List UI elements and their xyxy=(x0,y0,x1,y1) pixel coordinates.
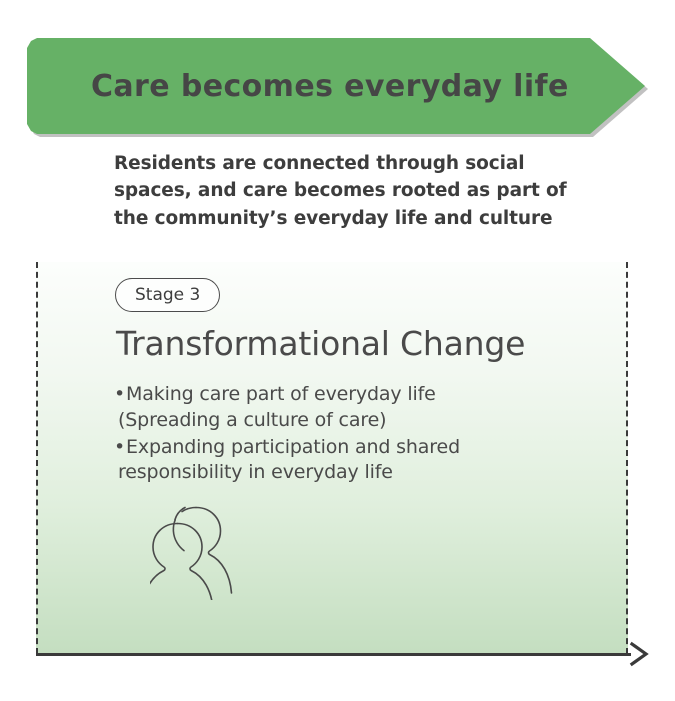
subtitle-line-2: spaces, and care becomes rooted as part … xyxy=(114,177,614,204)
bullet-continuation: (Spreading a culture of care) xyxy=(114,408,584,434)
stage-panel: Stage 3 Transformational Change • Making… xyxy=(36,262,628,654)
arrow-right-icon xyxy=(628,640,654,668)
banner-chevron: Care becomes everyday life xyxy=(27,38,645,134)
people-icon xyxy=(150,500,262,600)
bullet-marker-icon: • xyxy=(114,382,126,408)
bullet-marker-icon: • xyxy=(114,435,126,461)
subtitle-line-3: the community’s everyday life and cultur… xyxy=(114,205,614,232)
bullet-list: • Making care part of everyday life (Spr… xyxy=(114,382,584,487)
status-badge: Stage 3 xyxy=(115,278,220,312)
timeline-axis xyxy=(36,653,631,656)
bullet-continuation: responsibility in everyday life xyxy=(114,460,584,486)
page-title: Transformational Change xyxy=(116,324,525,363)
subtitle: Residents are connected through social s… xyxy=(114,150,614,232)
banner-title: Care becomes everyday life xyxy=(91,69,569,104)
stage-diagram: Care becomes everyday life Residents are… xyxy=(0,0,675,701)
list-item: • Making care part of everyday life (Spr… xyxy=(114,382,584,434)
list-item: • Expanding participation and shared res… xyxy=(114,435,584,487)
banner: Care becomes everyday life xyxy=(27,38,645,134)
subtitle-line-1: Residents are connected through social xyxy=(114,150,614,177)
bullet-text: Making care part of everyday life xyxy=(126,382,584,408)
bullet-text: Expanding participation and shared xyxy=(126,435,584,461)
